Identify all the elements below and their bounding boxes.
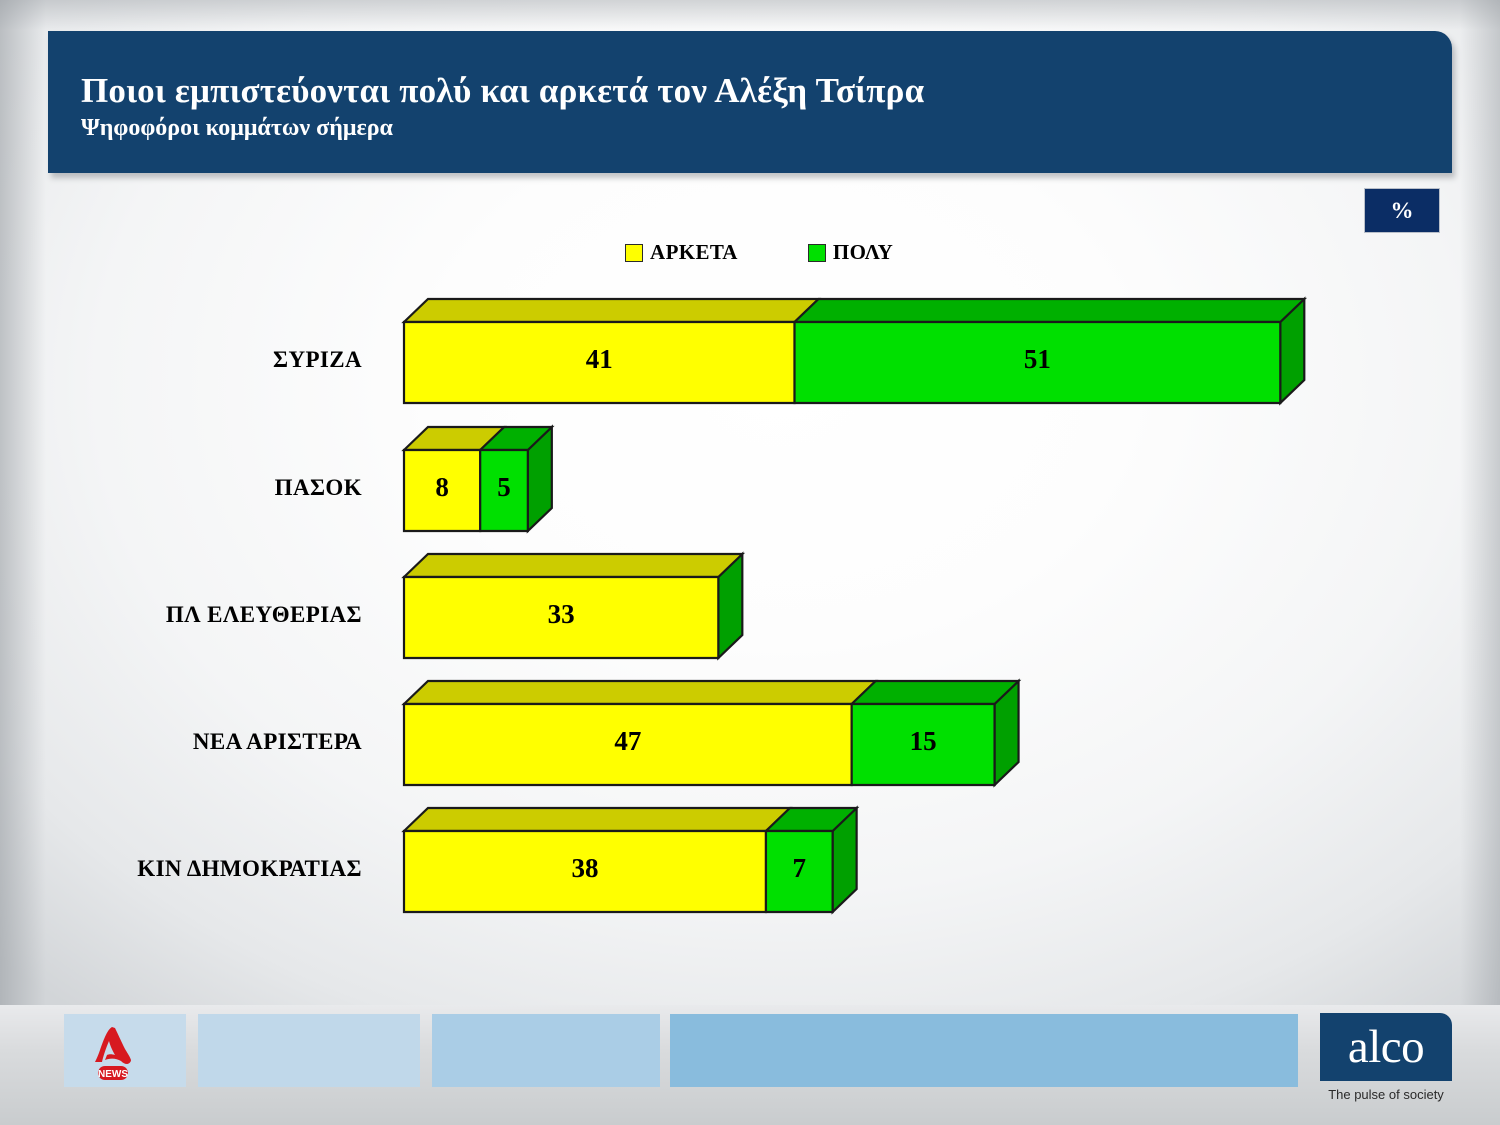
footer-segment-3 xyxy=(432,1014,660,1087)
footer-segment-4 xyxy=(670,1014,1298,1087)
bar-value-polu-5: 7 xyxy=(759,853,839,884)
percent-unit-badge: % xyxy=(1364,188,1440,233)
page-title: Ποιοι εμπιστεύονται πολύ και αρκετά τον … xyxy=(81,71,924,111)
bar-value-arketa-5: 38 xyxy=(545,853,625,884)
bar-value-polu-1: 51 xyxy=(997,344,1077,375)
category-label-3: ΠΛ ΕΛΕΥΘΕΡΙΑΣ xyxy=(166,602,362,628)
alpha-news-logo-icon: NEWS xyxy=(88,1024,140,1082)
alco-wordmark: alco xyxy=(1348,1024,1424,1071)
bar-value-polu-4: 15 xyxy=(883,726,963,757)
bar-value-arketa-1: 41 xyxy=(559,344,639,375)
bar-value-polu-2: 5 xyxy=(464,472,544,503)
bar-group xyxy=(404,299,1304,403)
footer-segment-2 xyxy=(198,1014,420,1087)
category-label-1: ΣΥΡΙΖΑ xyxy=(273,347,362,373)
legend-swatch-green-icon xyxy=(808,244,826,262)
bar-value-arketa-4: 47 xyxy=(588,726,668,757)
legend-label-polu: ΠΟΛΥ xyxy=(833,240,893,265)
alco-logo: alco xyxy=(1320,1013,1452,1081)
anews-label: NEWS xyxy=(98,1069,128,1080)
slide-canvas: Ποιοι εμπιστεύονται πολύ και αρκετά τον … xyxy=(0,0,1500,1125)
alco-tagline: The pulse of society xyxy=(1320,1087,1452,1102)
page-subtitle: Ψηφοφόροι κομμάτων σήμερα xyxy=(81,115,393,142)
chart-legend: ΑΡΚΕΤΑ ΠΟΛΥ xyxy=(625,240,893,265)
category-label-5: ΚΙΝ ΔΗΜΟΚΡΑΤΙΑΣ xyxy=(137,856,362,882)
legend-item-arketa[interactable]: ΑΡΚΕΤΑ xyxy=(625,240,738,265)
title-band: Ποιοι εμπιστεύονται πολύ και αρκετά τον … xyxy=(48,31,1452,173)
legend-swatch-yellow-icon xyxy=(625,244,643,262)
bar-value-arketa-3: 33 xyxy=(521,599,601,630)
legend-item-polu[interactable]: ΠΟΛΥ xyxy=(808,240,893,265)
category-label-4: ΝΕΑ ΑΡΙΣΤΕΡΑ xyxy=(193,729,362,755)
legend-label-arketa: ΑΡΚΕΤΑ xyxy=(650,240,738,265)
category-label-2: ΠΑΣΟΚ xyxy=(275,475,362,501)
